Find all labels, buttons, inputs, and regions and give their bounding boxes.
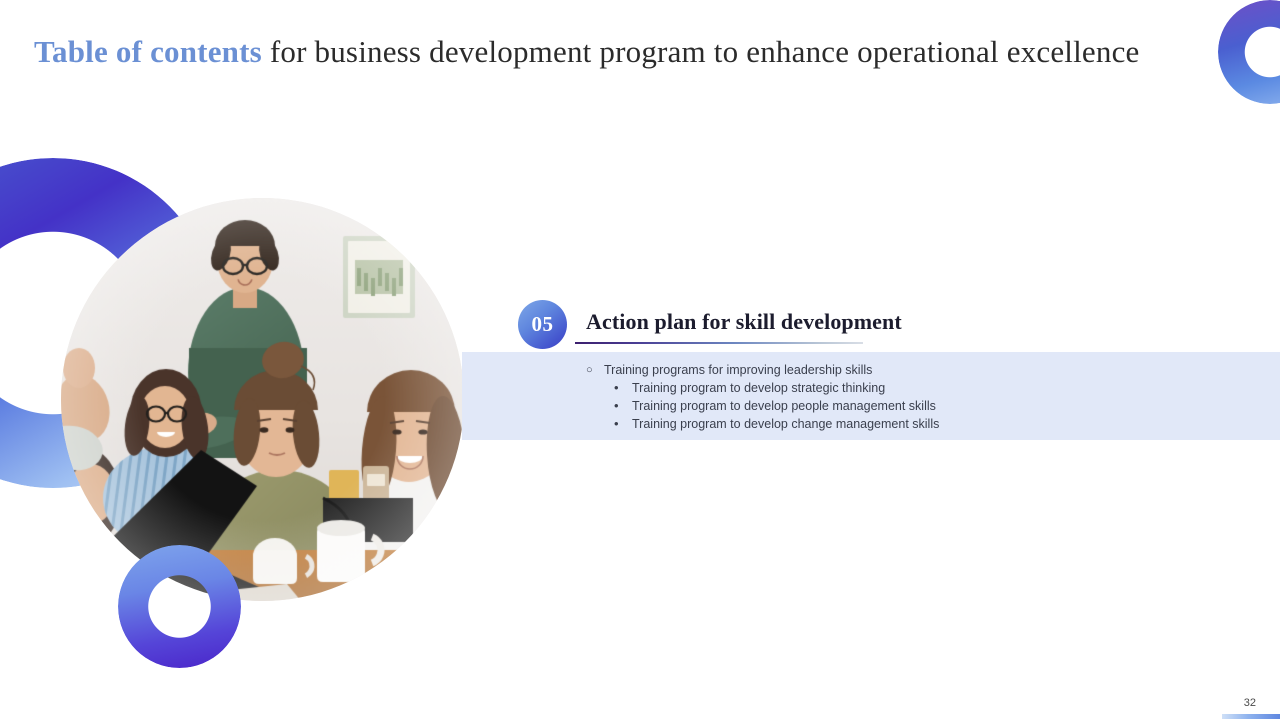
- entry-heading: Action plan for skill development: [586, 309, 902, 335]
- bullet-dot-icon: •: [614, 415, 632, 433]
- page-number: 32: [1244, 697, 1256, 709]
- bullet-hollow-icon: ○: [586, 361, 604, 379]
- page-title-highlight: Table of contents: [34, 34, 262, 69]
- entry-heading-underline: [575, 342, 863, 344]
- decorative-ring-bottom-left-icon: [118, 545, 241, 668]
- slide-canvas: Table of contents for business developme…: [0, 0, 1280, 720]
- list-item-label: Training programs for improving leadersh…: [604, 361, 1226, 379]
- bullet-list: ○Training programs for improving leaders…: [586, 361, 1226, 433]
- list-item-label: Training program to develop strategic th…: [632, 379, 1226, 397]
- entry-number-badge: 05: [518, 300, 567, 349]
- list-item: •Training program to develop strategic t…: [614, 379, 1226, 397]
- bullet-dot-icon: •: [614, 379, 632, 397]
- team-photo: [61, 198, 464, 601]
- list-item: •Training program to develop change mana…: [614, 415, 1226, 433]
- decorative-ring-top-right-icon: [1218, 0, 1280, 104]
- page-title: Table of contents for business developme…: [34, 26, 1264, 82]
- list-item-label: Training program to develop people manag…: [632, 397, 1226, 415]
- list-item: •Training program to develop people mana…: [614, 397, 1226, 415]
- team-photo-canvas: [61, 198, 464, 601]
- page-number-accent-bar: [1222, 714, 1280, 719]
- page-title-rest: for business development program to enha…: [262, 34, 1140, 69]
- list-item-label: Training program to develop change manag…: [632, 415, 1226, 433]
- bullet-dot-icon: •: [614, 397, 632, 415]
- list-item: ○Training programs for improving leaders…: [586, 361, 1226, 379]
